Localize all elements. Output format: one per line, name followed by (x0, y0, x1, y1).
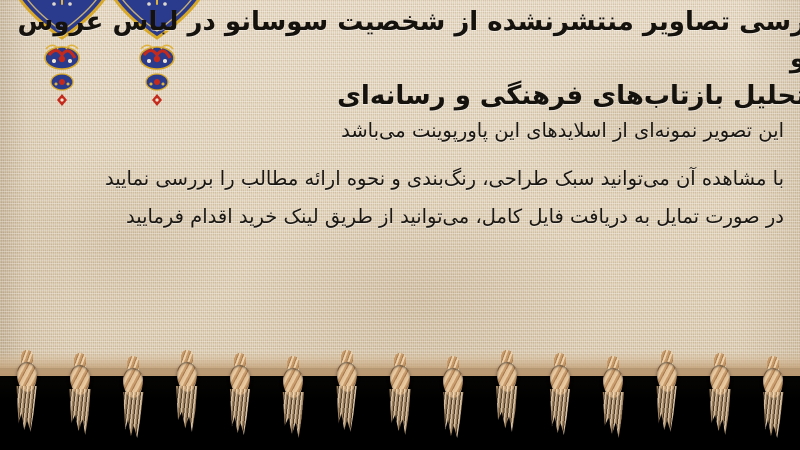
tassel-tuft (388, 389, 412, 435)
fringe-tassel (700, 359, 740, 439)
slide-title-line-2: تحلیل بازتاب‌های فرهنگی و رسانه‌ای (16, 78, 800, 115)
fringe-tassel (327, 356, 367, 436)
body-line-3: در صورت تمایل به دریافت فایل کامل، می‌تو… (14, 198, 784, 236)
fringe-tassel (540, 359, 580, 439)
fringe-tassel (433, 362, 473, 442)
tassel-tuft (495, 386, 519, 432)
tassel-tuft (761, 392, 785, 438)
fringe-tassel (487, 356, 527, 436)
body-line-2: با مشاهده آن می‌توانید سبک طراحی، رنگ‌بن… (14, 160, 784, 198)
fringe-tassel (220, 359, 260, 439)
tassel-tuft (441, 392, 465, 438)
body-line-1: این تصویر نمونه‌ای از اسلایدهای این پاور… (14, 112, 784, 150)
tassel-tuft (335, 386, 359, 432)
tassel-tuft (281, 392, 305, 438)
slide-canvas: رسی تصاویر منتشرنشده از شخصیت سوسانو در … (0, 0, 800, 450)
tassel-tuft (121, 392, 145, 438)
carpet-fringe-tassels (0, 352, 800, 450)
fringe-tassel (7, 356, 47, 436)
text-layer: رسی تصاویر منتشرنشده از شخصیت سوسانو در … (0, 0, 800, 374)
fringe-tassel (113, 362, 153, 442)
fringe-tassel (753, 362, 793, 442)
tassel-tuft (548, 389, 572, 435)
tassel-tuft (655, 386, 679, 432)
fringe-tassel (593, 362, 633, 442)
slide-title-line-1: رسی تصاویر منتشرنشده از شخصیت سوسانو در … (17, 7, 800, 74)
tassel-tuft (175, 386, 199, 432)
tassel-tuft (228, 389, 252, 435)
tassel-tuft (68, 389, 92, 435)
fringe-tassel (60, 359, 100, 439)
slide-body: این تصویر نمونه‌ای از اسلایدهای این پاور… (14, 112, 784, 236)
tassel-tuft (601, 392, 625, 438)
fringe-tassel (167, 356, 207, 436)
fringe-tassel (380, 359, 420, 439)
slide-title: رسی تصاویر منتشرنشده از شخصیت سوسانو در … (16, 4, 800, 115)
tassel-tuft (708, 389, 732, 435)
fringe-tassel (647, 356, 687, 436)
tassel-tuft (15, 386, 39, 432)
fringe-tassel (273, 362, 313, 442)
